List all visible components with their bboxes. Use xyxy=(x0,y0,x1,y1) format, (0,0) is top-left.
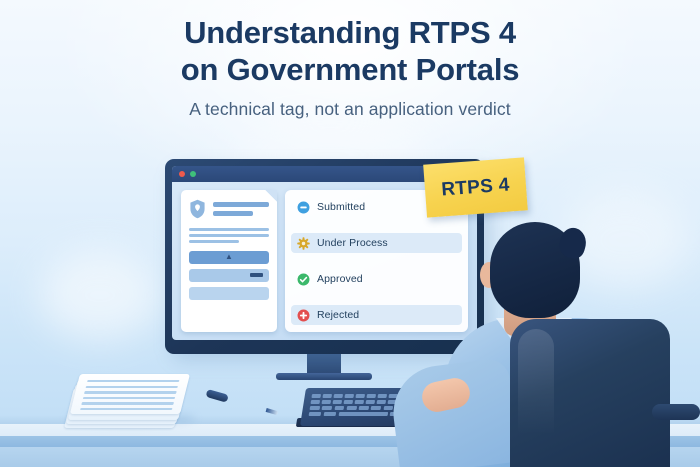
sticky-note-label: RTPS 4 xyxy=(441,174,511,201)
pen xyxy=(205,389,279,418)
chevron-up-icon: ▲ xyxy=(225,252,233,261)
page-title: Understanding RTPS 4 on Government Porta… xyxy=(0,14,700,88)
person-arm xyxy=(388,357,520,467)
document-text-line xyxy=(189,240,239,243)
document-field-tertiary xyxy=(189,287,269,300)
document-text-lines xyxy=(189,228,269,243)
paper-lines xyxy=(80,380,180,410)
paper-line xyxy=(84,391,177,393)
window-maximize-dot[interactable] xyxy=(190,171,196,177)
chair-armrest xyxy=(652,404,700,420)
document-card-header xyxy=(189,199,269,219)
document-field-primary: ▲ xyxy=(189,251,269,264)
gear-icon xyxy=(297,237,310,250)
pen-tip xyxy=(266,408,278,415)
status-label: Under Process xyxy=(317,237,388,249)
pen-cap xyxy=(205,389,228,403)
shield-icon xyxy=(189,199,206,219)
paper-sheet-top xyxy=(70,374,190,414)
page-title-line-1: Understanding RTPS 4 xyxy=(184,15,516,50)
document-field-tag xyxy=(250,273,263,277)
document-field-secondary xyxy=(189,269,269,282)
paper-line xyxy=(87,380,180,382)
page-subtitle: A technical tag, not an application verd… xyxy=(0,99,700,120)
plus-circle-icon xyxy=(297,309,310,322)
document-header-line xyxy=(213,202,269,207)
paper-line xyxy=(83,397,176,399)
check-circle-icon xyxy=(297,273,310,286)
document-header-lines xyxy=(213,202,269,216)
sticky-note-badge: RTPS 4 xyxy=(423,157,528,217)
window-close-dot[interactable] xyxy=(179,171,185,177)
paper-line xyxy=(81,402,174,404)
status-label: Approved xyxy=(317,273,363,285)
document-text-line xyxy=(189,228,269,231)
page-title-line-2: on Government Portals xyxy=(0,51,700,88)
paper-stack xyxy=(72,372,188,428)
document-text-line xyxy=(189,234,269,237)
document-header-line xyxy=(213,211,253,216)
illustration-canvas: Understanding RTPS 4 on Government Porta… xyxy=(0,0,700,467)
application-document-card: ▲ xyxy=(181,190,277,332)
monitor-stand-base xyxy=(276,373,372,380)
office-chair-back xyxy=(510,319,670,467)
header-block: Understanding RTPS 4 on Government Porta… xyxy=(0,14,700,120)
chair-highlight xyxy=(518,329,554,461)
minus-circle-icon xyxy=(297,201,310,214)
background-blob-1 xyxy=(40,250,160,340)
paper-line xyxy=(86,386,179,388)
status-label: Submitted xyxy=(317,201,365,213)
status-label: Rejected xyxy=(317,309,359,321)
paper-line xyxy=(80,408,173,410)
